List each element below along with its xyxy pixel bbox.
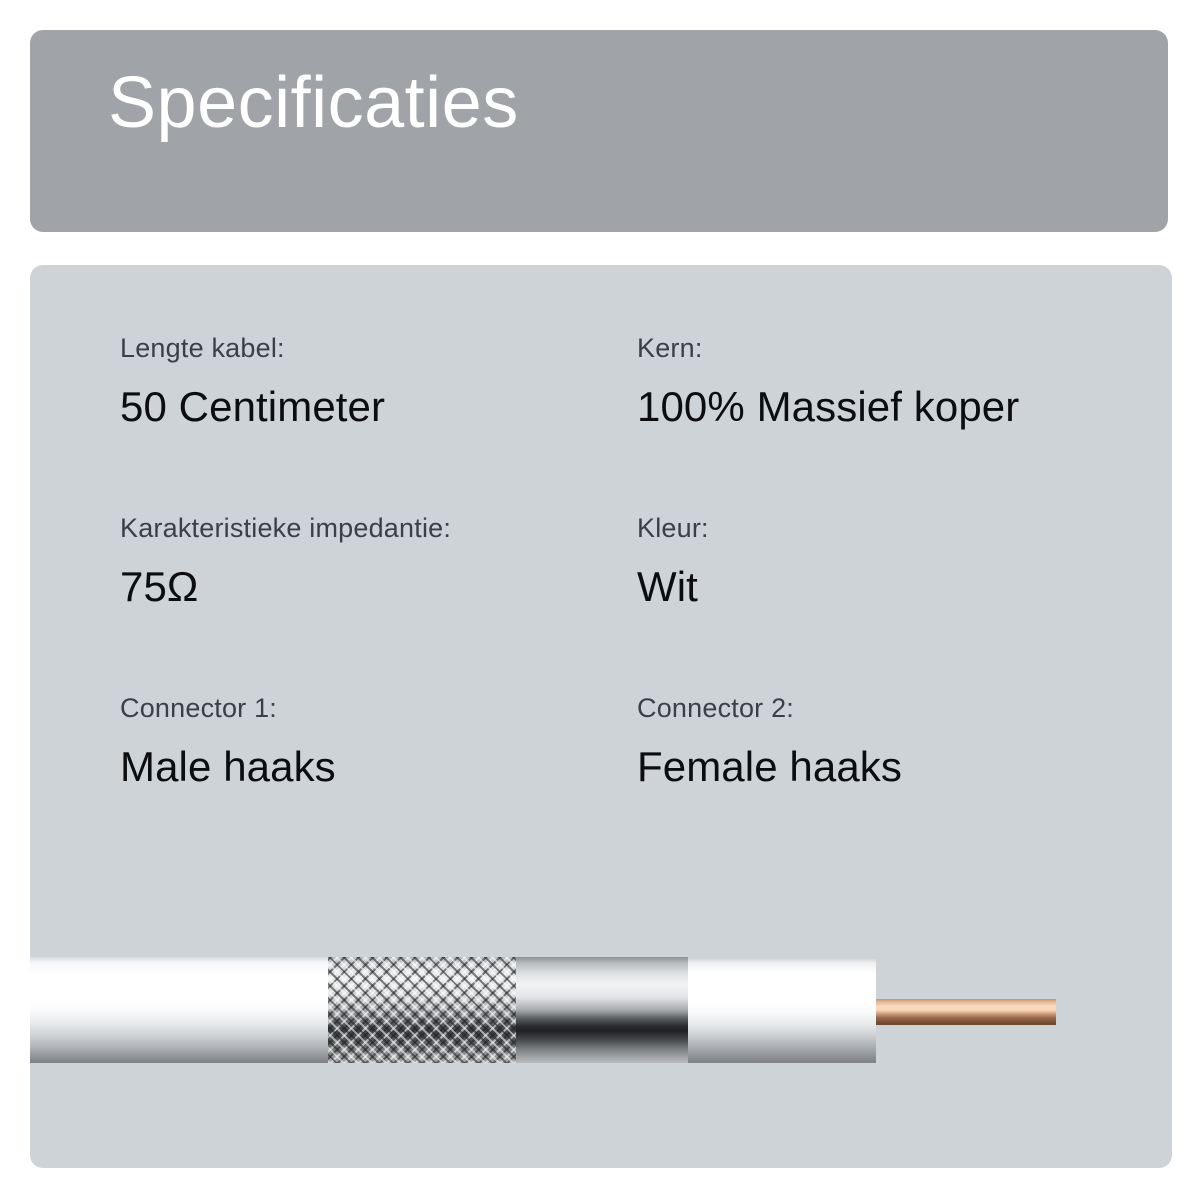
spec-item-connector-2: Connector 2: Female haaks: [637, 695, 1120, 875]
page-title: Specificaties: [108, 64, 519, 143]
spec-value: Female haaks: [637, 746, 1120, 788]
specifications-panel: Lengte kabel: 50 Centimeter Kern: 100% M…: [30, 265, 1172, 1168]
specifications-header-bar: Specificaties: [30, 30, 1168, 232]
spec-value: Wit: [637, 566, 1120, 608]
spec-item-lengte-kabel: Lengte kabel: 50 Centimeter: [120, 335, 637, 515]
spec-label: Lengte kabel:: [120, 335, 637, 362]
spec-label: Kern:: [637, 335, 1120, 362]
cable-metallic-foil-layer: [516, 957, 688, 1063]
spec-label: Kleur:: [637, 515, 1120, 542]
coaxial-cable-image: [30, 957, 1172, 1067]
spec-label: Karakteristieke impedantie:: [120, 515, 637, 542]
spec-item-karakteristieke-impedantie: Karakteristieke impedantie: 75Ω: [120, 515, 637, 695]
spec-label: Connector 2:: [637, 695, 1120, 722]
spec-value: 50 Centimeter: [120, 386, 637, 428]
spec-item-kleur: Kleur: Wit: [637, 515, 1120, 695]
cable-copper-conductor-layer: [876, 999, 1056, 1025]
spec-item-kern: Kern: 100% Massief koper: [637, 335, 1120, 515]
cable-outer-jacket-layer: [30, 957, 328, 1063]
spec-value: Male haaks: [120, 746, 637, 788]
cable-dielectric-layer: [688, 957, 876, 1063]
specifications-grid: Lengte kabel: 50 Centimeter Kern: 100% M…: [120, 335, 1120, 875]
cable-braided-shield-layer: [328, 957, 516, 1063]
spec-label: Connector 1:: [120, 695, 637, 722]
spec-value: 75Ω: [120, 566, 637, 608]
spec-value: 100% Massief koper: [637, 386, 1120, 428]
spec-item-connector-1: Connector 1: Male haaks: [120, 695, 637, 875]
